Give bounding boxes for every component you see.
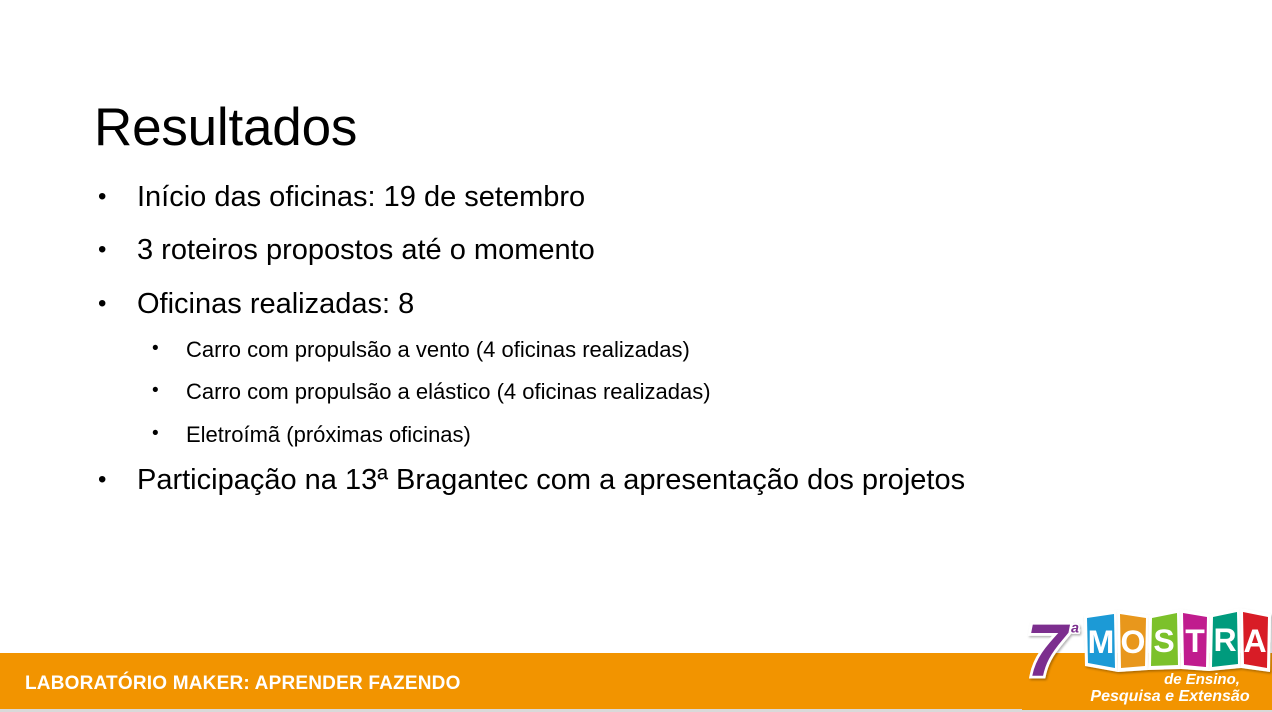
list-item: • 3 roteiros propostos até o momento bbox=[94, 235, 1184, 265]
slide: Resultados • Início das oficinas: 19 de … bbox=[0, 0, 1272, 712]
logo-letter-t: T bbox=[1185, 623, 1205, 659]
mostra-logo-graphic: 7 ª M O S bbox=[1022, 598, 1272, 710]
logo-subtitle-line2: Pesquisa e Extensão bbox=[1090, 688, 1249, 705]
sub-list-item-label: Eletroímã (próximas oficinas) bbox=[186, 423, 1184, 446]
logo-letter-o: O bbox=[1121, 624, 1146, 660]
bullet-marker-icon: • bbox=[150, 380, 186, 403]
bullet-marker-icon: • bbox=[94, 182, 137, 212]
logo-letter-s: S bbox=[1153, 623, 1174, 659]
logo-ordinal-suffix: ª bbox=[1070, 620, 1079, 645]
mostra-logo: 7 ª M O S bbox=[1022, 598, 1272, 710]
bullet-marker-icon: • bbox=[150, 338, 186, 361]
sub-list-item-label: Carro com propulsão a vento (4 oficinas … bbox=[186, 338, 1184, 361]
sub-list-item-label: Carro com propulsão a elástico (4 oficin… bbox=[186, 380, 1184, 403]
list-item-label: Início das oficinas: 19 de setembro bbox=[137, 182, 1184, 212]
logo-letter-r: R bbox=[1213, 622, 1236, 658]
logo-letter-tile-m: M bbox=[1084, 610, 1118, 672]
sub-list-item: • Carro com propulsão a vento (4 oficina… bbox=[150, 338, 1184, 361]
list-item: • Início das oficinas: 19 de setembro bbox=[94, 182, 1184, 212]
logo-letter-tile-r: R bbox=[1209, 608, 1241, 671]
list-item: • Participação na 13ª Bragantec com a ap… bbox=[94, 465, 1184, 495]
bullet-marker-icon: • bbox=[94, 235, 137, 265]
list-item: • Oficinas realizadas: 8 bbox=[94, 289, 1184, 319]
sub-bullet-list: • Carro com propulsão a vento (4 oficina… bbox=[94, 338, 1184, 445]
logo-letter-tile-o: O bbox=[1117, 610, 1149, 672]
sub-list-item: • Carro com propulsão a elástico (4 ofic… bbox=[150, 380, 1184, 403]
bullet-marker-icon: • bbox=[150, 423, 186, 446]
sub-list-item: • Eletroímã (próximas oficinas) bbox=[150, 423, 1184, 446]
list-item-label: Oficinas realizadas: 8 bbox=[137, 289, 1184, 319]
bullet-marker-icon: • bbox=[94, 289, 137, 319]
footer-title: LABORATÓRIO MAKER: APRENDER FAZENDO bbox=[25, 673, 461, 695]
list-item-label: 3 roteiros propostos até o momento bbox=[137, 235, 1184, 265]
logo-letter-a: A bbox=[1243, 623, 1266, 659]
bullet-marker-icon: • bbox=[94, 465, 137, 495]
list-item-label: Participação na 13ª Bragantec com a apre… bbox=[137, 465, 1184, 495]
logo-letter-m: M bbox=[1088, 624, 1115, 660]
logo-letter-tile-a: A bbox=[1240, 608, 1271, 672]
logo-ordinal-number: 7 bbox=[1026, 609, 1071, 692]
logo-subtitle-line1: de Ensino, bbox=[1164, 671, 1240, 688]
bullet-list: • Início das oficinas: 19 de setembro • … bbox=[94, 182, 1184, 495]
page-title: Resultados bbox=[94, 98, 357, 159]
logo-letter-tile-s: S bbox=[1148, 609, 1181, 670]
logo-letter-tile-t: T bbox=[1180, 609, 1210, 671]
